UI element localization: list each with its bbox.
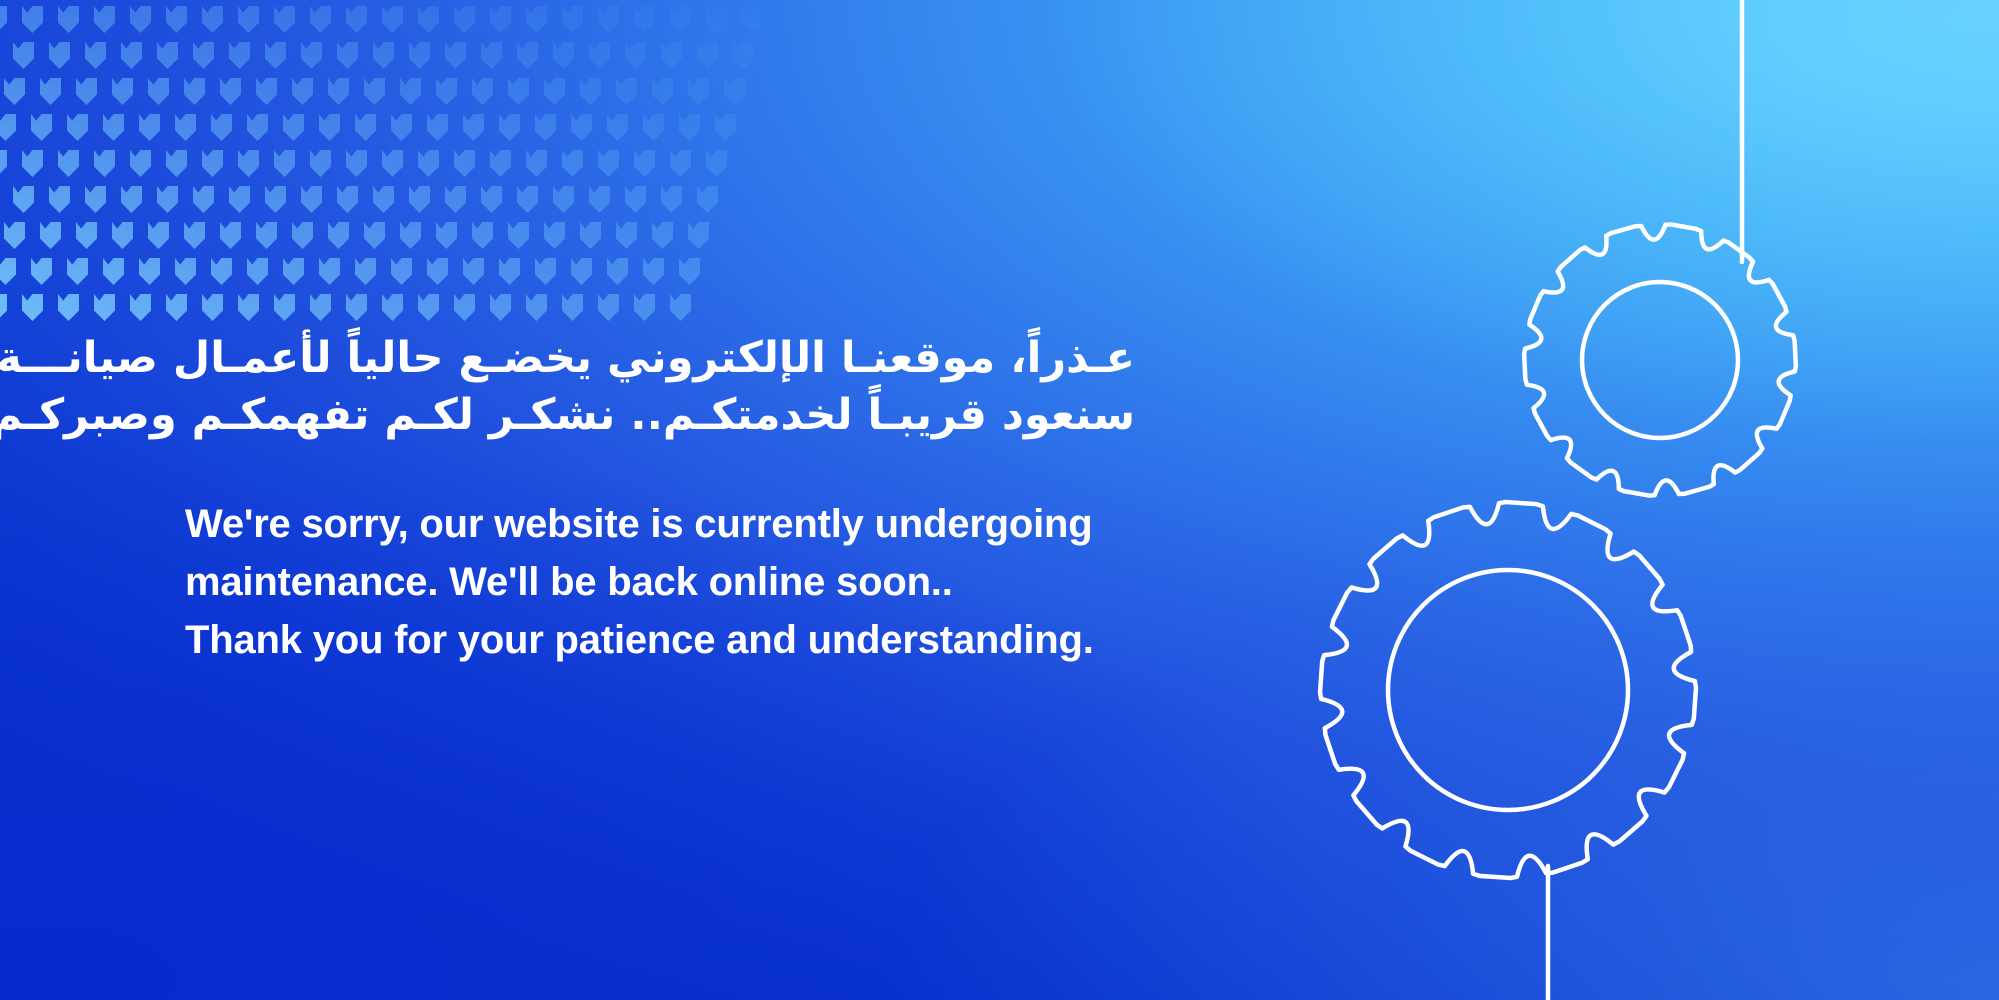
english-message: We're sorry, our website is currently un… [185,496,1185,669]
english-line-1: We're sorry, our website is currently un… [185,496,1185,554]
arabic-line-2: سنعود قريبـاً لخدمتكـم.. نشكـر لكـم تفهم… [185,387,1135,444]
english-line-2: maintenance. We'll be back online soon.. [185,554,1185,612]
maintenance-page: عـذراً، موقعنـا الإلكتروني يخضـع حالياً … [0,0,1999,1000]
english-line-3: Thank you for your patience and understa… [185,612,1185,670]
arabic-line-1: عـذراً، موقعنـا الإلكتروني يخضـع حالياً … [185,330,1135,387]
message-block: عـذراً، موقعنـا الإلكتروني يخضـع حالياً … [185,330,1185,669]
arabic-message: عـذراً، موقعنـا الإلكتروني يخضـع حالياً … [185,330,1135,444]
